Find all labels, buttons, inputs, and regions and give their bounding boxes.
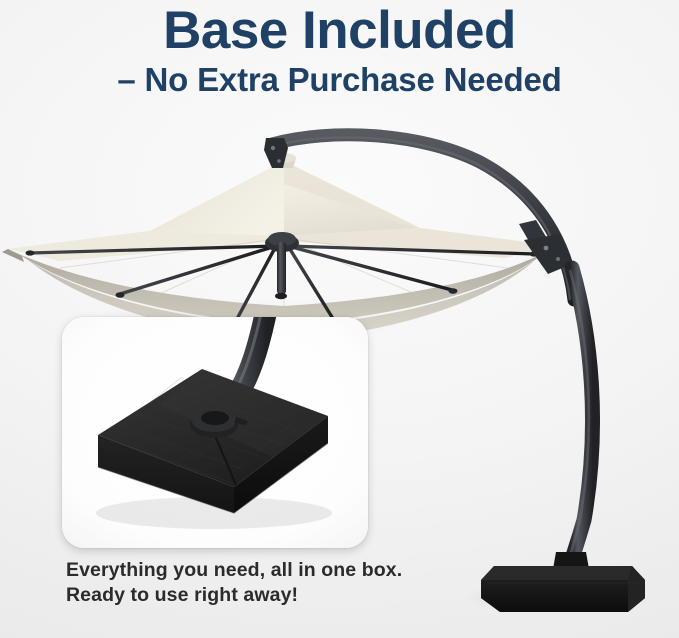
- umbrella-base: [481, 566, 645, 612]
- inset-caption: Everything you need, all in one box. Rea…: [66, 558, 406, 608]
- canopy-hub: [265, 232, 299, 299]
- base-closeup-inset-card: [62, 317, 368, 548]
- support-pole: [567, 268, 593, 566]
- product-marketing-image: Base Included – No Extra Purchase Needed: [0, 0, 679, 638]
